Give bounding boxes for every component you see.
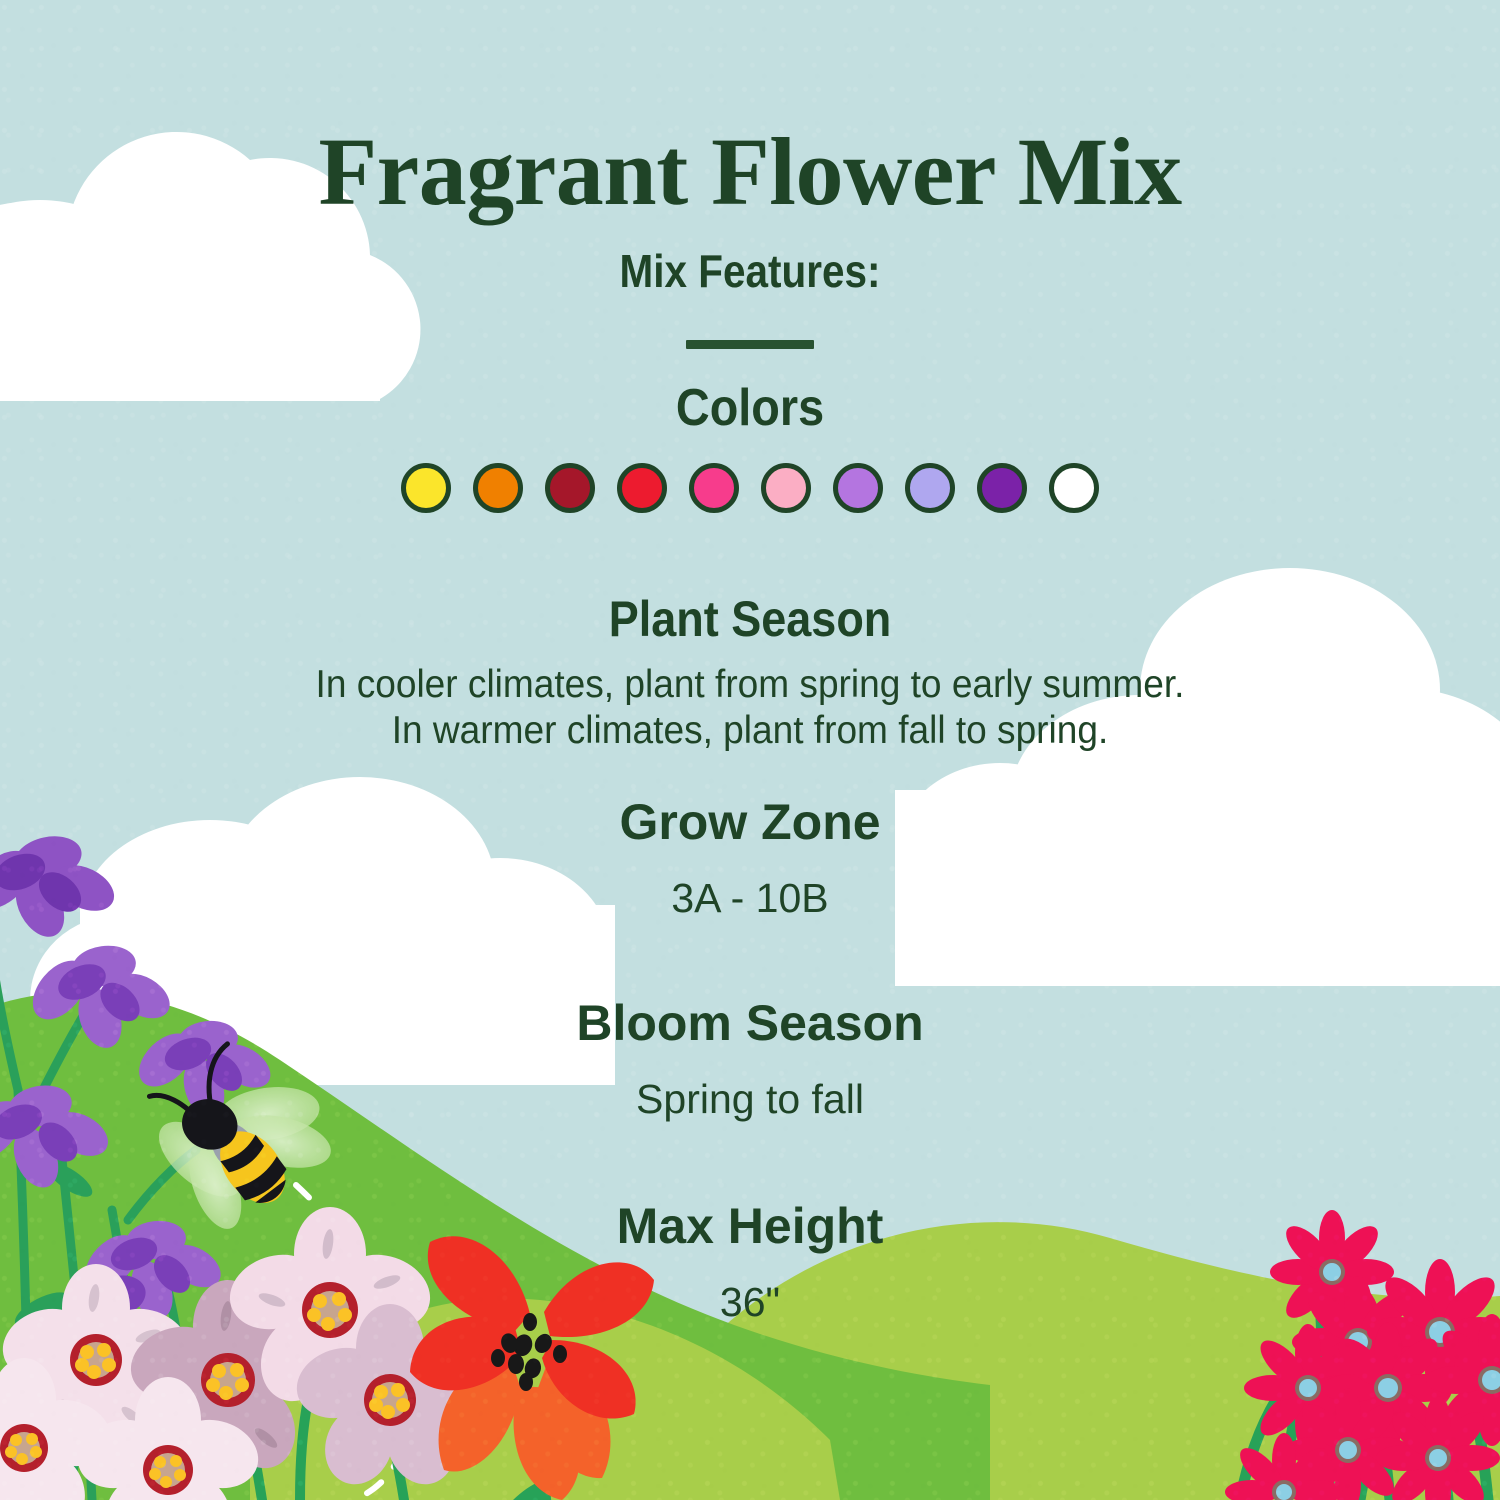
grow-zone-value: 3A - 10B xyxy=(0,874,1500,922)
heading-divider-rule xyxy=(686,340,814,349)
max-height-heading: Max Height xyxy=(0,1201,1500,1251)
poster-canvas: Fragrant Flower Mix Mix Features: Colors… xyxy=(0,0,1500,1500)
plant-season-line-2: In warmer climates, plant from fall to s… xyxy=(38,708,1463,754)
color-swatch-yellow[interactable] xyxy=(401,463,451,513)
bloom-season-heading: Bloom Season xyxy=(0,998,1500,1048)
color-swatch-dark-red[interactable] xyxy=(545,463,595,513)
grow-zone-heading: Grow Zone xyxy=(0,797,1500,847)
colors-heading: Colors xyxy=(75,382,1425,434)
color-swatch-white[interactable] xyxy=(1049,463,1099,513)
plant-season-line-1: In cooler climates, plant from spring to… xyxy=(38,662,1463,708)
page-title: Fragrant Flower Mix xyxy=(0,124,1500,220)
color-swatch-hot-pink[interactable] xyxy=(689,463,739,513)
bloom-season-value: Spring to fall xyxy=(0,1075,1500,1123)
color-swatch-deep-purple[interactable] xyxy=(977,463,1027,513)
max-height-value: 36" xyxy=(0,1278,1500,1326)
plant-season-heading: Plant Season xyxy=(75,594,1425,644)
mix-features-subtitle: Mix Features: xyxy=(90,248,1410,294)
color-swatch-red[interactable] xyxy=(617,463,667,513)
color-swatch-medium-purple[interactable] xyxy=(833,463,883,513)
color-swatch-row xyxy=(0,463,1500,513)
color-swatch-light-pink[interactable] xyxy=(761,463,811,513)
color-swatch-periwinkle[interactable] xyxy=(905,463,955,513)
plant-season-body: In cooler climates, plant from spring to… xyxy=(38,662,1463,754)
color-swatch-orange[interactable] xyxy=(473,463,523,513)
